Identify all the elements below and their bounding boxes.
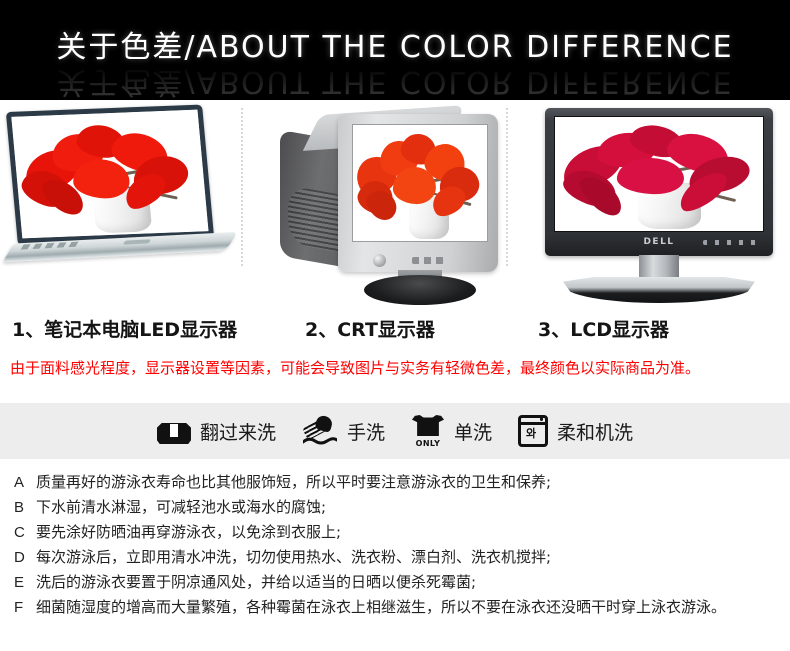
care-instruction-row: D 每次游泳后，立即用清水冲洗，切勿使用热水、洗衣粉、漂白剂、洗衣机搅拌; bbox=[14, 546, 790, 571]
lcd-screen bbox=[554, 116, 764, 232]
crt-power-button[interactable] bbox=[373, 254, 386, 267]
flower-image-lcd bbox=[555, 117, 763, 231]
care-instruction-row: A 质量再好的游泳衣寿命也比其他服饰短，所以平时要注意游泳衣的卫生和保养; bbox=[14, 471, 790, 496]
crt-base bbox=[364, 275, 476, 305]
care-instruction-key: C bbox=[14, 524, 27, 541]
header-banner: 关于色差/ABOUT THE COLOR DIFFERENCE 关于色差/ABO… bbox=[0, 0, 790, 100]
care-item-turn-inside-out: 翻过来洗 bbox=[157, 418, 276, 445]
machine-drum-glyph: 와 bbox=[526, 428, 536, 439]
care-instruction-text: 细菌随湿度的增高而大量繁殖，各种霉菌在泳衣上相继滋生，所以不要在泳衣还没晒干时穿… bbox=[36, 596, 726, 617]
care-instruction-text: 下水前清水淋湿，可减轻池水或海水的腐蚀; bbox=[36, 496, 326, 517]
care-instruction-key: B bbox=[14, 499, 27, 516]
wash-alone-icon: ONLY bbox=[411, 415, 445, 447]
care-instruction-key: F bbox=[14, 599, 27, 616]
crt-screen bbox=[352, 124, 488, 242]
care-item-gentle-machine-wash: 와 柔和机洗 bbox=[518, 415, 633, 447]
care-instruction-key: E bbox=[14, 574, 27, 591]
flower-image-crt bbox=[353, 125, 487, 241]
care-instruction-key: D bbox=[14, 549, 27, 566]
color-difference-notice: 由于面料感光程度，显示器设置等因素，可能会导致图片与实务有轻微色差，最终颜色以实… bbox=[0, 357, 790, 403]
care-instruction-row: B 下水前清水淋湿，可减轻池水或海水的腐蚀; bbox=[14, 496, 790, 521]
care-instruction-key: A bbox=[14, 474, 27, 491]
care-instruction-row: E 洗后的游泳衣要置于阴凉通风处，并给以适当的日晒以便杀死霉菌; bbox=[14, 571, 790, 596]
monitor-captions: 1、笔记本电脑LED显示器 2、CRT显示器 3、LCD显示器 bbox=[0, 315, 790, 357]
caption-lcd: 3、LCD显示器 bbox=[538, 315, 669, 342]
laptop-screen bbox=[11, 110, 208, 239]
caption-laptop: 1、笔记本电脑LED显示器 bbox=[12, 315, 237, 342]
care-instruction-text: 洗后的游泳衣要置于阴凉通风处，并给以适当的日晒以便杀死霉菌; bbox=[36, 571, 476, 592]
lcd-monitor: DELL bbox=[545, 108, 780, 303]
care-item-hand-wash: 手洗 bbox=[302, 416, 385, 446]
care-instruction-text: 质量再好的游泳衣寿命也比其他服饰短，所以平时要注意游泳衣的卫生和保养; bbox=[36, 471, 551, 492]
care-item-wash-alone: ONLY 单洗 bbox=[411, 415, 492, 447]
turn-inside-out-icon bbox=[157, 418, 191, 444]
lcd-control-buttons[interactable] bbox=[703, 240, 761, 245]
care-instruction-text: 每次游泳后，立即用清水冲洗，切勿使用热水、洗衣粉、漂白剂、洗衣机搅拌; bbox=[36, 546, 551, 567]
care-instruction-row: C 要先涂好防晒油再穿游泳衣，以免涂到衣服上; bbox=[14, 521, 790, 546]
flower-image-laptop bbox=[11, 110, 208, 239]
wash-alone-icon-caption: ONLY bbox=[411, 439, 445, 448]
monitor-comparison-stage: DELL bbox=[0, 100, 790, 315]
gentle-machine-wash-icon: 와 bbox=[518, 415, 548, 447]
water-wave-icon bbox=[303, 437, 337, 445]
page-title: 关于色差/ABOUT THE COLOR DIFFERENCE bbox=[0, 22, 790, 66]
care-label-gentle-machine-wash: 柔和机洗 bbox=[557, 418, 633, 445]
care-label-wash-alone: 单洗 bbox=[454, 418, 492, 445]
crt-control-buttons[interactable] bbox=[412, 257, 448, 264]
crt-monitor bbox=[280, 104, 502, 304]
care-label-turn-inside-out: 翻过来洗 bbox=[200, 418, 276, 445]
care-label-hand-wash: 手洗 bbox=[347, 418, 385, 445]
care-instruction-row: F 细菌随湿度的增高而大量繁殖，各种霉菌在泳衣上相继滋生，所以不要在泳衣还没晒干… bbox=[14, 596, 790, 621]
laptop-led-monitor bbox=[6, 106, 234, 284]
page-title-reflection: 关于色差/ABOUT THE COLOR DIFFERENCE bbox=[0, 63, 790, 100]
care-symbol-band: 翻过来洗 手洗 ONLY 单洗 와 柔和机洗 bbox=[0, 403, 790, 459]
lcd-stand bbox=[563, 277, 755, 303]
laptop-lid bbox=[6, 105, 214, 246]
notice-text: 由于面料感光程度，显示器设置等因素，可能会导致图片与实务有轻微色差，最终颜色以实… bbox=[10, 357, 700, 378]
caption-crt: 2、CRT显示器 bbox=[305, 315, 435, 342]
divider-2 bbox=[506, 108, 508, 266]
care-instruction-list: A 质量再好的游泳衣寿命也比其他服饰短，所以平时要注意游泳衣的卫生和保养; B … bbox=[0, 459, 790, 621]
divider-1 bbox=[241, 108, 243, 266]
care-instruction-text: 要先涂好防晒油再穿游泳衣，以免涂到衣服上; bbox=[36, 521, 341, 542]
hand-wash-icon bbox=[302, 416, 338, 446]
lcd-bezel: DELL bbox=[545, 108, 773, 256]
